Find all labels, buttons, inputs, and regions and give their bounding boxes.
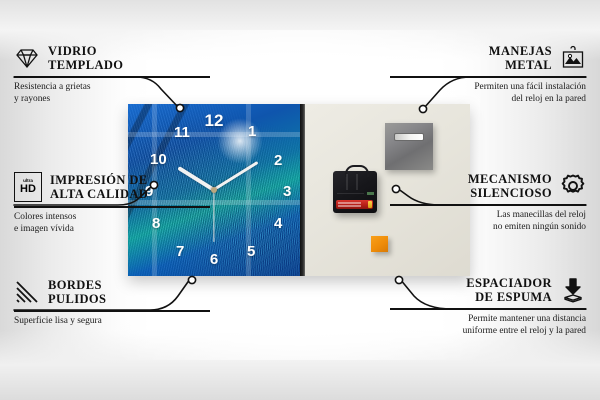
mechanism-detail <box>337 193 363 195</box>
clock-numeral-1: 1 <box>248 124 256 139</box>
feature-header: MECANISMO SILENCIOSO <box>390 172 586 200</box>
battery-positive-tip <box>368 201 372 208</box>
feature-header: ultra HD IMPRESIÓN DE ALTA CALIDAD <box>14 172 210 202</box>
feature-title: VIDRIO TEMPLADO <box>48 44 123 72</box>
feature-espaciador-espuma[interactable]: ESPACIADOR DE ESPUMA Permite mantener un… <box>390 276 586 337</box>
feature-rule <box>14 206 210 208</box>
clock-numeral-3: 3 <box>283 184 291 199</box>
feature-description: Colores intensos e imagen vívida <box>14 211 210 236</box>
mechanism-detail <box>356 174 358 191</box>
clock-mechanism <box>333 171 377 213</box>
battery-stripe <box>338 205 361 207</box>
feature-title: MECANISMO SILENCIOSO <box>468 172 552 200</box>
feature-title: BORDES PULIDOS <box>48 278 106 306</box>
diamond-icon <box>14 45 40 71</box>
mechanism-indicator <box>367 192 373 195</box>
mechanism-detail <box>346 174 348 191</box>
clock-numeral-10: 10 <box>150 152 167 167</box>
feature-manejas-metal[interactable]: MANEJAS METAL Permiten una fácil instala… <box>390 44 586 105</box>
hanger-keyhole-slot <box>394 133 425 141</box>
feature-impresion-alta-calidad[interactable]: ultra HD IMPRESIÓN DE ALTA CALIDAD Color… <box>14 172 210 235</box>
infographic-canvas: 12 1 2 3 4 5 6 7 8 9 10 11 <box>0 0 600 400</box>
feature-title: MANEJAS METAL <box>489 44 552 72</box>
feature-rule <box>14 76 210 78</box>
feature-header: VIDRIO TEMPLADO <box>14 44 210 72</box>
foam-spacer-arrow-icon <box>560 277 586 303</box>
clock-numeral-12: 12 <box>205 112 224 129</box>
foam-spacer <box>371 236 388 252</box>
feature-vidrio-templado[interactable]: VIDRIO TEMPLADO Resistencia a grietas y … <box>14 44 210 105</box>
clock-numeral-7: 7 <box>176 244 184 259</box>
feature-bordes-pulidos[interactable]: BORDES PULIDOS Superficie lisa y segura <box>14 278 210 327</box>
feature-header: BORDES PULIDOS <box>14 278 210 306</box>
feature-rule <box>14 310 210 312</box>
feature-description: Permite mantener una distancia uniforme … <box>390 313 586 338</box>
feature-header: MANEJAS METAL <box>390 44 586 72</box>
battery <box>336 200 373 210</box>
feature-description: Superficie lisa y segura <box>14 315 210 327</box>
clock-numeral-11: 11 <box>174 125 190 140</box>
feature-rule <box>390 308 586 310</box>
battery-stripe <box>338 202 361 204</box>
metal-hanger-plate <box>385 123 433 170</box>
feature-description: Las manecillas del reloj no emiten ningú… <box>390 209 586 234</box>
face-specular-glow <box>217 118 263 164</box>
feature-rule <box>390 76 586 78</box>
feature-description: Permiten una fácil instalación del reloj… <box>390 81 586 106</box>
feature-description: Resistencia a grietas y rayones <box>14 81 210 106</box>
ultra-hd-icon: ultra HD <box>14 172 42 202</box>
clock-numeral-6: 6 <box>210 252 218 267</box>
feature-rule <box>390 204 586 206</box>
clock-center-cap <box>211 187 217 193</box>
wall-hanging-picture-icon <box>560 45 586 71</box>
feature-title: IMPRESIÓN DE ALTA CALIDAD <box>50 173 148 201</box>
gear-icon <box>560 173 586 199</box>
feature-mecanismo-silencioso[interactable]: MECANISMO SILENCIOSO Las manecillas del … <box>390 172 586 233</box>
feature-header: ESPACIADOR DE ESPUMA <box>390 276 586 304</box>
polished-edges-icon <box>14 279 40 305</box>
feature-title: ESPACIADOR DE ESPUMA <box>466 276 552 304</box>
clock-numeral-2: 2 <box>274 153 282 168</box>
clock-numeral-5: 5 <box>247 244 255 259</box>
clock-numeral-4: 4 <box>274 216 282 231</box>
vignette-bottom <box>0 330 600 400</box>
